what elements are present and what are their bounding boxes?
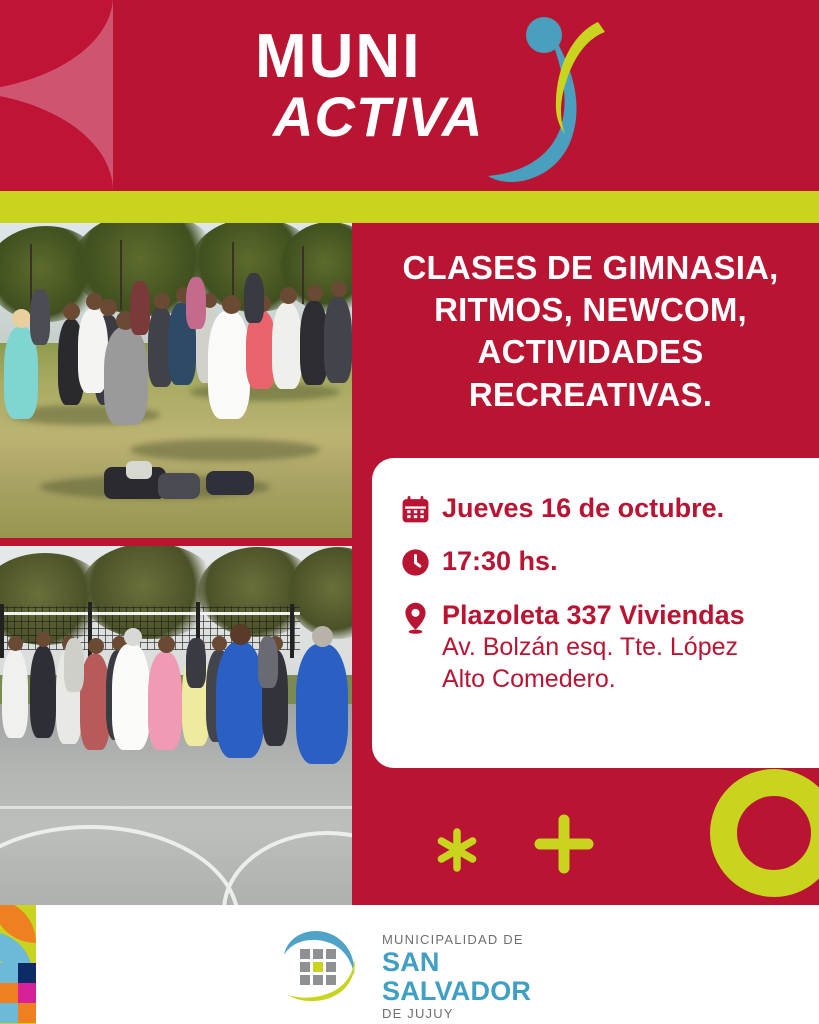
poster-footer: MUNICIPALIDAD DE SAN SALVADOR DE JUJUY: [0, 905, 819, 1024]
accent-divider-band: [0, 191, 819, 223]
event-location-line-2: Av. Bolzán esq. Tte. López: [442, 632, 745, 664]
event-date-text: Jueves 16 de octubre.: [442, 492, 724, 525]
event-date-row: Jueves 16 de octubre.: [400, 492, 799, 525]
petal-shape-top: [0, 0, 113, 92]
event-location-line-1: Plazoleta 337 Viviendas: [442, 599, 745, 632]
running-person-icon: [470, 4, 605, 189]
headline-line-4: RECREATIVAS.: [368, 374, 813, 416]
san-salvador-logo: MUNICIPALIDAD DE SAN SALVADOR DE JUJUY: [270, 925, 590, 1005]
photo-group-exercise-court: [0, 546, 352, 905]
clock-icon: [400, 545, 442, 578]
photo-outdoor-gymnastics-park: [0, 223, 352, 538]
footer-color-grid: [0, 963, 36, 1024]
headline-line-2: RITMOS, NEWCOM,: [368, 289, 813, 331]
muni-activa-logo: MUNI ACTIVA: [255, 14, 585, 174]
map-pin-icon: [400, 599, 442, 635]
event-location-line-3: Alto Comedero.: [442, 664, 745, 696]
headline-line-1: CLASES DE GIMNASIA,: [368, 247, 813, 289]
event-location-row: Plazoleta 337 Viviendas Av. Bolzán esq. …: [400, 599, 799, 695]
footer-logo-text: MUNICIPALIDAD DE SAN SALVADOR DE JUJUY: [382, 933, 592, 1021]
header-decorative-pattern: [0, 0, 113, 191]
footer-logo-line-1: MUNICIPALIDAD DE: [382, 933, 592, 947]
poster-header: MUNI ACTIVA: [0, 0, 819, 191]
asterisk-icon: [433, 826, 481, 874]
footer-corner-pattern: [0, 905, 36, 1024]
calendar-icon: [400, 492, 442, 525]
petal-shape-bottom: [0, 91, 113, 191]
poster-body: CLASES DE GIMNASIA, RITMOS, NEWCOM, ACTI…: [0, 223, 819, 905]
page-title: CLASES DE GIMNASIA, RITMOS, NEWCOM, ACTI…: [368, 247, 813, 416]
footer-logo-line-2: SAN SALVADOR: [382, 948, 592, 1005]
event-location-block: Plazoleta 337 Viviendas Av. Bolzán esq. …: [442, 599, 745, 695]
event-time-text: 17:30 hs.: [442, 545, 558, 578]
footer-logo-line-3: DE JUJUY: [382, 1007, 592, 1021]
logo-text-activa: ACTIVA: [273, 89, 483, 145]
headline-line-3: ACTIVIDADES: [368, 331, 813, 373]
event-time-row: 17:30 hs.: [400, 545, 799, 578]
poster-root: MUNI ACTIVA: [0, 0, 819, 1024]
plus-icon: [532, 812, 596, 876]
san-salvador-grid-icon: [270, 925, 374, 1005]
event-details-card: Jueves 16 de octubre. 17:30 hs.: [372, 458, 819, 768]
circle-ring-icon: [710, 769, 819, 897]
logo-text-muni: MUNI: [255, 26, 421, 88]
